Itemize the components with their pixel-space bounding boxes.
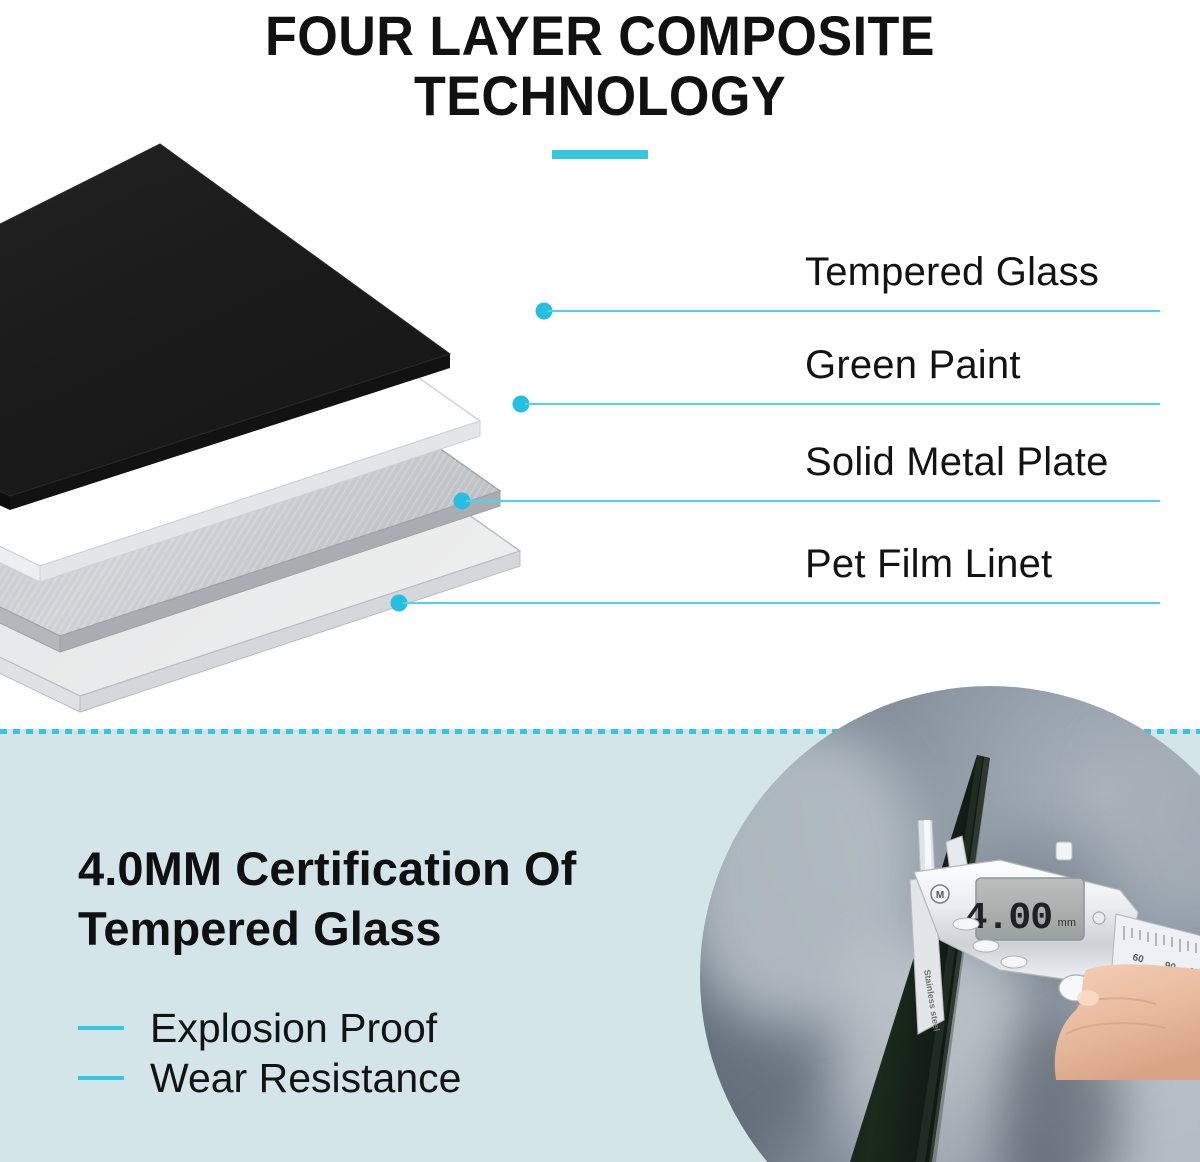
four-layer-section: FOUR LAYER COMPOSITE TECHNOLOGY Tempered… <box>0 0 1200 729</box>
feature-label: Explosion Proof <box>150 1006 437 1050</box>
dash-icon <box>78 1076 124 1080</box>
feature-item-wear-resistance: Wear Resistance <box>78 1053 576 1103</box>
certification-heading-line-2: Tempered Glass <box>78 899 576 959</box>
feature-label: Wear Resistance <box>150 1056 461 1100</box>
title-accent-bar <box>552 150 648 159</box>
feature-item-explosion-proof: Explosion Proof <box>78 1003 576 1053</box>
photo-background-blur <box>1100 716 1200 916</box>
callout-label-solid-metal-plate: Solid Metal Plate <box>805 440 1109 484</box>
caliper-photo-circle <box>700 686 1200 1162</box>
feature-list: Explosion Proof Wear Resistance <box>78 1003 576 1103</box>
callout-label-pet-film-linet: Pet Film Linet <box>805 542 1052 586</box>
callout-label-green-paint: Green Paint <box>805 343 1021 387</box>
title-line-1: FOUR LAYER COMPOSITE <box>42 8 1158 64</box>
callout-label-tempered-glass: Tempered Glass <box>805 250 1099 294</box>
dash-icon <box>78 1026 124 1030</box>
product-infographic: FOUR LAYER COMPOSITE TECHNOLOGY Tempered… <box>0 0 1200 1162</box>
exploded-layer-illustration <box>0 96 760 716</box>
certification-text-block: 4.0MM Certification Of Tempered Glass Ex… <box>78 839 576 1103</box>
certification-heading-line-1: 4.0MM Certification Of <box>78 839 576 899</box>
title-line-2: TECHNOLOGY <box>42 68 1158 124</box>
page-title: FOUR LAYER COMPOSITE TECHNOLOGY <box>0 2 1200 159</box>
